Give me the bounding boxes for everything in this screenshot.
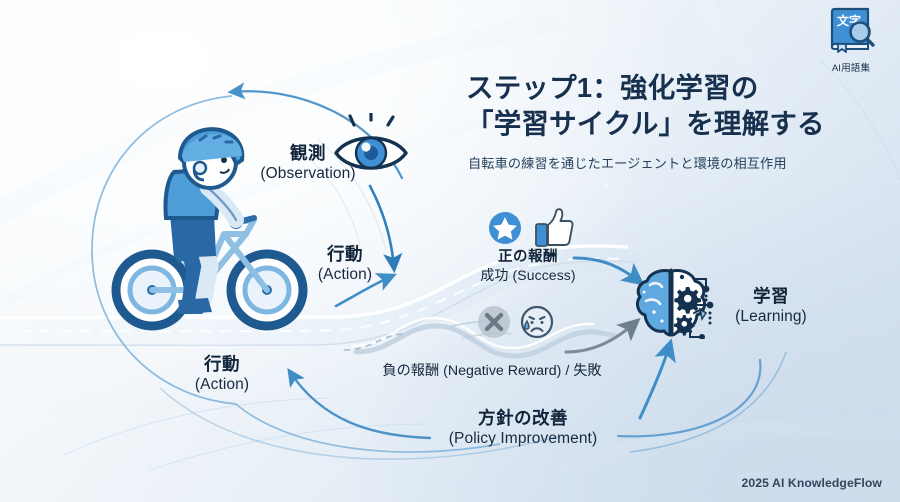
cross-circle-icon: [477, 305, 511, 339]
footer-credit: 2025 AI KnowledgeFlow: [742, 476, 882, 490]
label-observation: 観測 (Observation): [253, 142, 363, 184]
label-policy-improvement: 方針の改善 (Policy Improvement): [428, 407, 618, 449]
label-negative-reward-text: 負の報酬 (Negative Reward) / 失敗: [362, 362, 622, 380]
label-positive-reward: 正の報酬 成功 (Success): [469, 248, 587, 284]
brain-gears-icon: [634, 265, 720, 339]
label-observation-en: (Observation): [253, 164, 363, 184]
label-negative-reward: 負の報酬 (Negative Reward) / 失敗: [362, 362, 622, 380]
page-subtitle: 自転車の練習を通じたエージェントと環境の相互作用: [468, 153, 868, 172]
thumbs-up-icon: [534, 207, 574, 249]
page-title: ステップ1：強化学習の 「学習サイクル」を理解する: [466, 70, 866, 142]
sad-face-icon: [520, 305, 554, 339]
label-policy-improvement-en: (Policy Improvement): [428, 429, 618, 449]
arrow-policy-return-left: [290, 372, 430, 438]
label-action-bottom: 行動 (Action): [175, 353, 269, 395]
label-positive-reward-en: 成功 (Success): [469, 267, 587, 285]
label-action-bottom-jp: 行動: [175, 353, 269, 375]
glossary-badge[interactable]: 文字 AI用語集: [815, 6, 887, 74]
label-action-top: 行動 (Action): [300, 243, 390, 285]
arrow-policy-to-brain: [640, 344, 670, 418]
label-action-top-en: (Action): [300, 265, 390, 285]
title-line-1: ステップ1：強化学習の: [466, 72, 759, 103]
star-badge-icon: [487, 210, 523, 246]
label-action-bottom-en: (Action): [175, 375, 269, 395]
label-policy-improvement-jp: 方針の改善: [428, 407, 618, 429]
label-positive-reward-jp: 正の報酬: [469, 248, 587, 267]
infographic-canvas: 文字 AI用語集 ステップ1：強化学習の 「学習サイクル」を理解する 自転車の練…: [0, 0, 900, 502]
label-learning: 学習 (Learning): [726, 285, 816, 327]
label-learning-en: (Learning): [726, 307, 816, 327]
glossary-book-icon: 文字: [824, 6, 878, 54]
arrow-negative-to-brain: [566, 322, 636, 352]
label-action-top-jp: 行動: [300, 243, 390, 265]
label-observation-jp: 観測: [253, 142, 363, 164]
title-line-2: 「学習サイクル」を理解する: [466, 106, 866, 142]
label-learning-jp: 学習: [726, 285, 816, 307]
